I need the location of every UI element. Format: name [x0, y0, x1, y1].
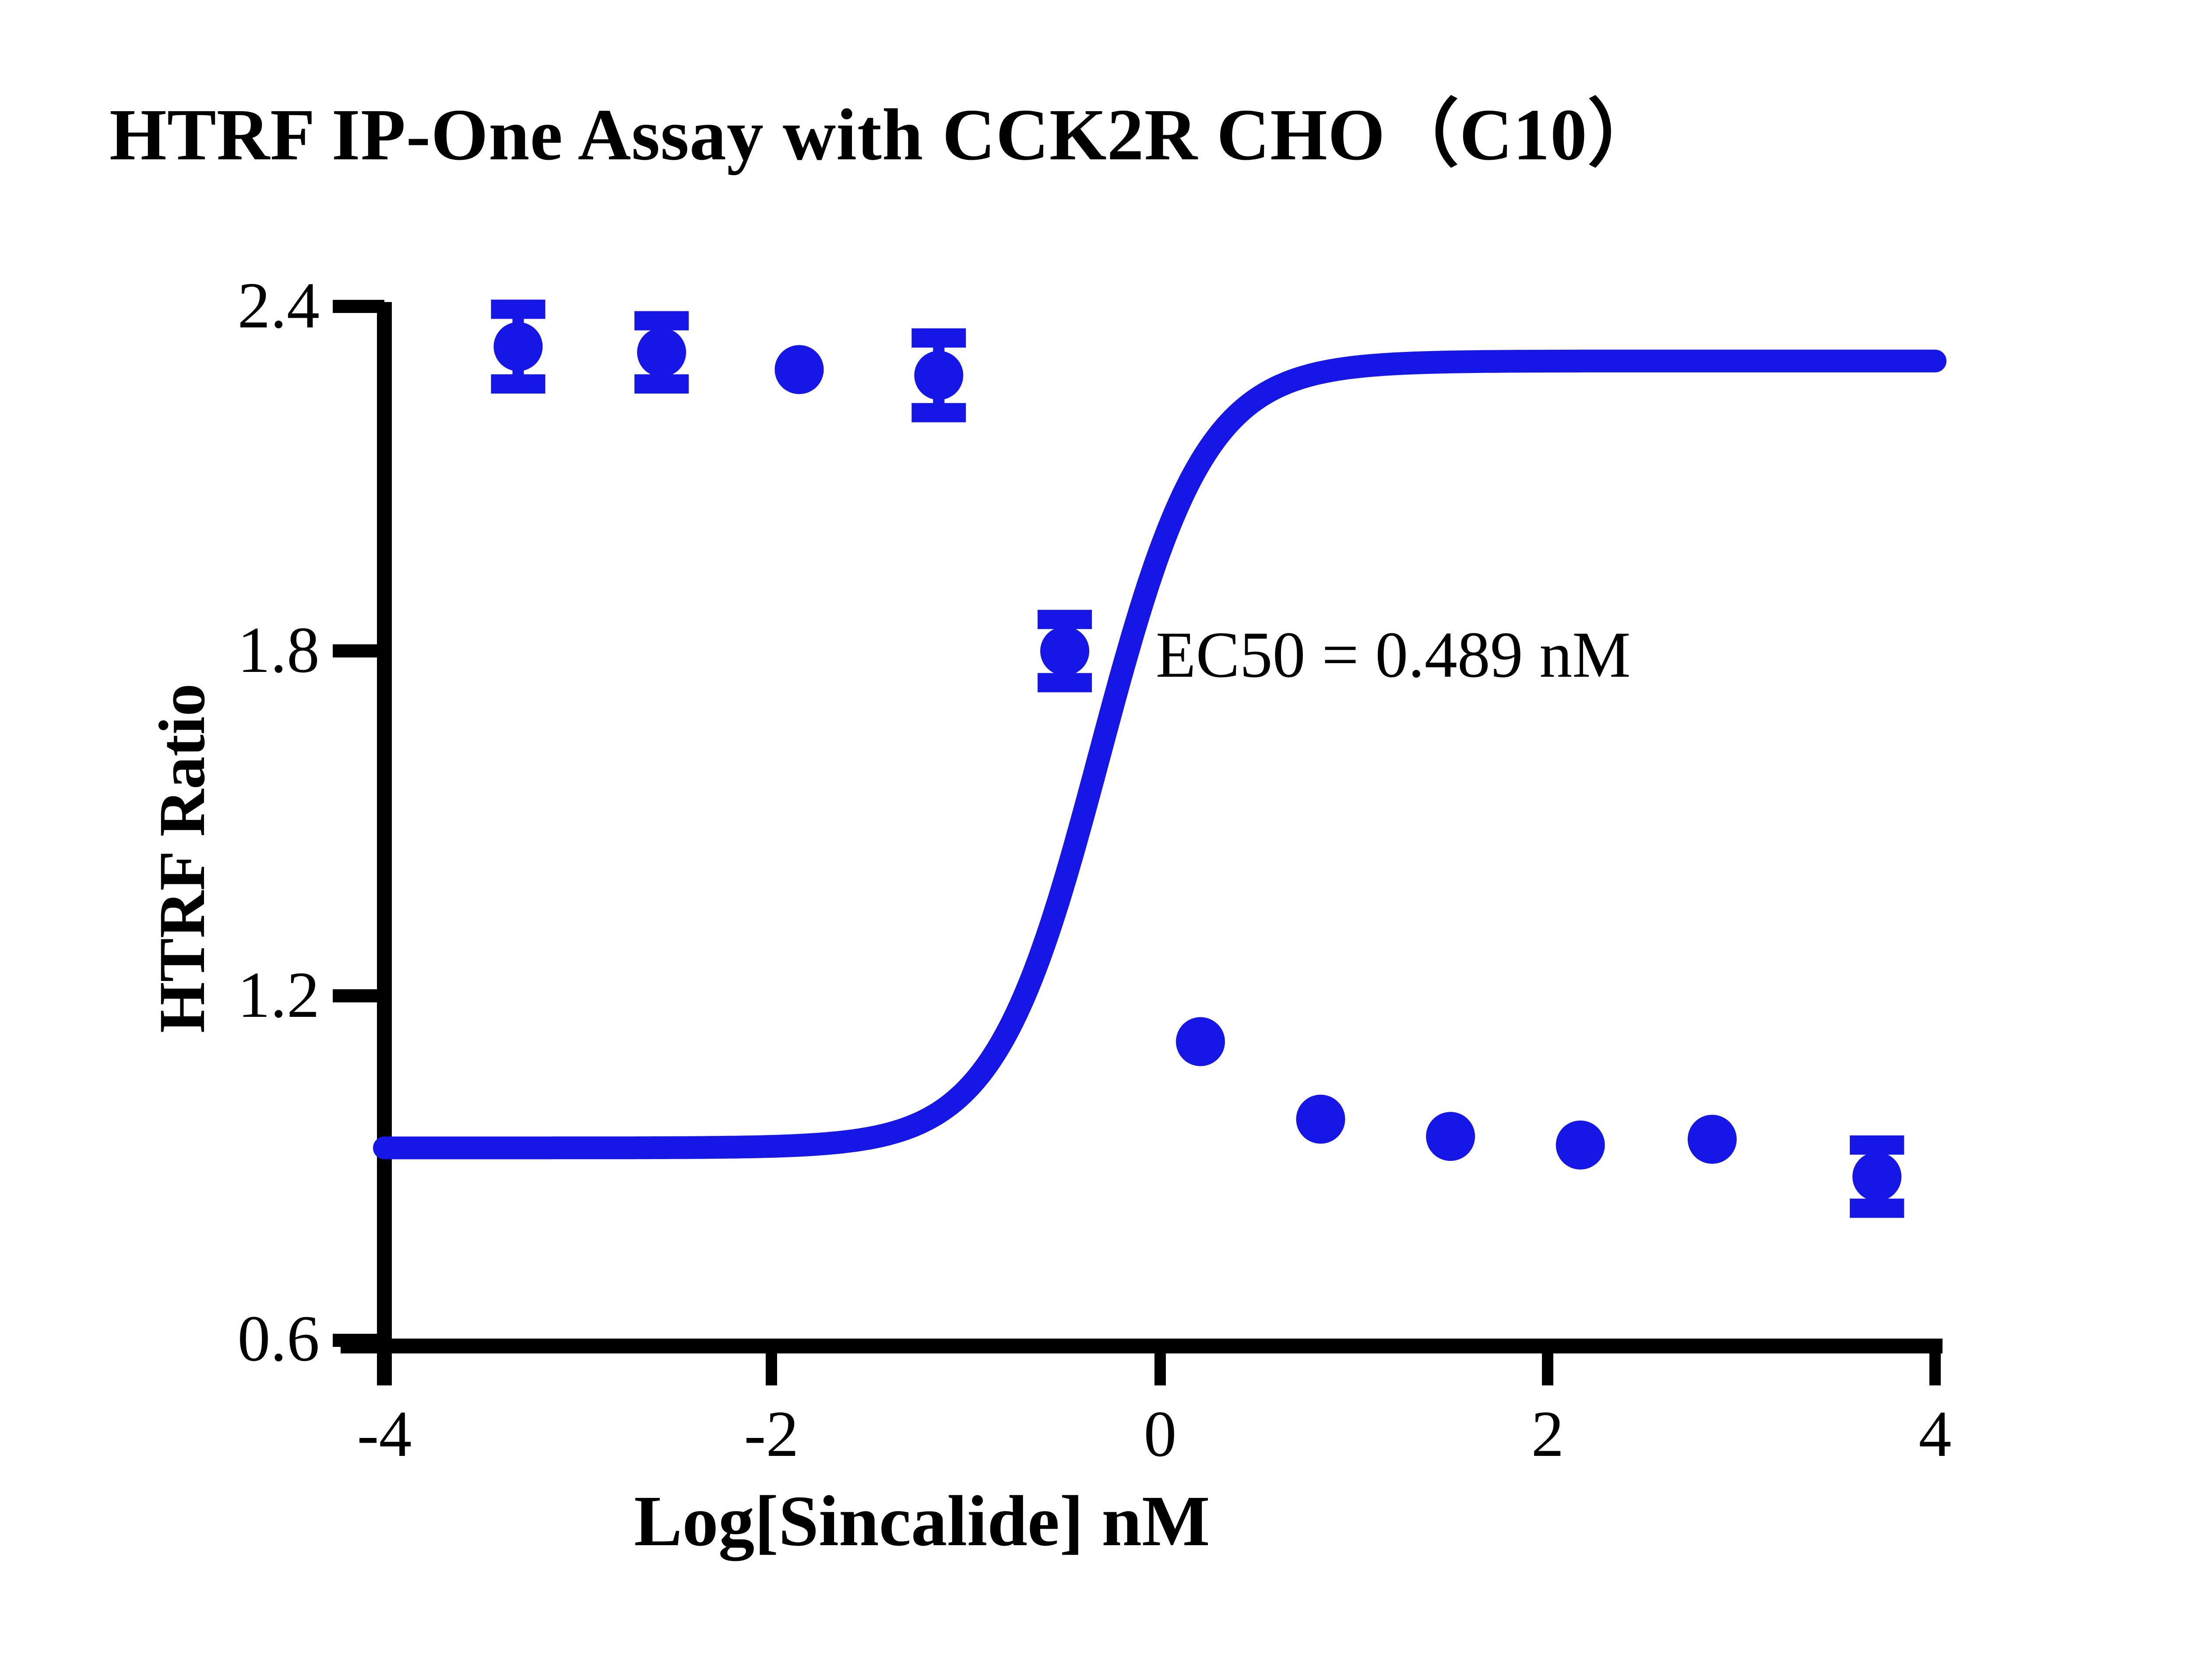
data-series-group — [384, 309, 1935, 1209]
x-tick-marks — [384, 1350, 1935, 1385]
data-point-marker — [774, 345, 824, 394]
data-point-marker — [914, 351, 963, 400]
data-point-marker — [493, 322, 542, 371]
data-point-marker — [637, 328, 686, 377]
data-point-marker — [1556, 1121, 1605, 1170]
error-bars-group — [491, 309, 1904, 1209]
axes-group — [333, 302, 1943, 1385]
plot-area — [0, 0, 2189, 1680]
chart-canvas: HTRF IP-One Assay with CCK2R CHO（C10） HT… — [0, 0, 2189, 1680]
data-point-marker — [1426, 1112, 1475, 1161]
data-point-marker — [1040, 626, 1089, 675]
y-tick-marks — [333, 306, 384, 1340]
fit-curve — [384, 361, 1935, 1148]
data-point-marker — [1176, 1017, 1225, 1066]
data-point-marker — [1688, 1115, 1737, 1164]
data-point-marker — [1296, 1095, 1345, 1144]
data-point-marker — [1852, 1152, 1901, 1201]
